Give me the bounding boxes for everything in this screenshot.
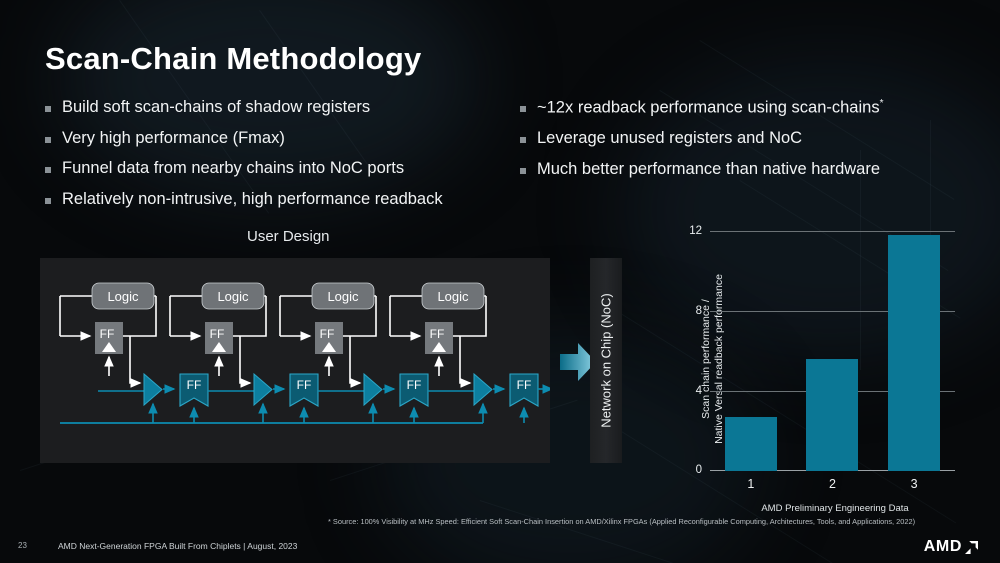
svg-text:FF: FF: [100, 327, 115, 341]
x-tick-label: 1: [710, 477, 791, 491]
scan-chain-diagram: Logic FF FF: [40, 258, 550, 463]
bullet-text: Relatively non-intrusive, high performan…: [62, 191, 443, 208]
bullet-square-icon: [45, 106, 51, 112]
svg-text:FF: FF: [297, 378, 312, 392]
amd-logo-text: AMD: [924, 538, 962, 556]
amd-arrow-mark-icon: [965, 541, 978, 554]
x-tick-label: 2: [792, 477, 873, 491]
bullet-text: Leverage unused registers and NoC: [537, 130, 802, 147]
chain-stage-1: Logic FF FF: [60, 283, 208, 423]
slide-root: Scan-Chain Methodology Build soft scan-c…: [0, 0, 1000, 563]
footnote-marker: *: [880, 98, 884, 109]
bar-slot-2: [792, 231, 873, 471]
svg-text:FF: FF: [430, 327, 445, 341]
list-item: Build soft scan-chains of shadow registe…: [45, 99, 515, 116]
svg-text:FF: FF: [320, 327, 335, 341]
svg-text:FF: FF: [187, 378, 202, 392]
chart-x-tick-labels: 1 2 3: [710, 477, 955, 491]
bullet-square-icon: [520, 137, 526, 143]
source-footnote: * Source: 100% Visibility at MHz Speed: …: [328, 517, 915, 526]
bullet-square-icon: [520, 106, 526, 112]
bullet-text: ~12x readback performance using scan-cha…: [537, 99, 883, 116]
user-design-label: User Design: [247, 228, 330, 245]
chain-stage-4: Logic FF FF: [390, 283, 550, 423]
chart-plot-area: 12 8 4 0: [710, 231, 955, 471]
svg-text:Logic: Logic: [217, 289, 249, 304]
bar-slot-1: [710, 231, 791, 471]
bullet-square-icon: [520, 168, 526, 174]
svg-text:FF: FF: [517, 378, 532, 392]
list-item: Relatively non-intrusive, high performan…: [45, 191, 515, 208]
bullet-text: Funnel data from nearby chains into NoC …: [62, 160, 404, 177]
noc-label: Network on Chip (NoC): [599, 293, 614, 427]
list-item: Leverage unused registers and NoC: [520, 130, 970, 147]
scan-chain-diagram-svg: Logic FF FF: [40, 258, 550, 463]
bullet-square-icon: [45, 137, 51, 143]
readback-performance-chart: Scan chain performance / Native Versal r…: [655, 225, 975, 515]
y-tick-label: 4: [696, 385, 702, 397]
svg-text:Logic: Logic: [107, 289, 139, 304]
bar-1: [725, 417, 777, 471]
bullet-text-main: ~12x readback performance using scan-cha…: [537, 99, 880, 117]
bullet-text: Much better performance than native hard…: [537, 161, 880, 178]
bar-slot-3: [874, 231, 955, 471]
page-title: Scan-Chain Methodology: [45, 41, 421, 77]
y-tick-label: 8: [696, 305, 702, 317]
bar-2: [806, 359, 858, 471]
chart-x-axis-label: AMD Preliminary Engineering Data: [710, 503, 960, 514]
x-tick-label: 3: [874, 477, 955, 491]
y-tick-label: 12: [689, 225, 702, 237]
list-item: ~12x readback performance using scan-cha…: [520, 99, 970, 116]
svg-text:FF: FF: [210, 327, 225, 341]
svg-text:FF: FF: [407, 378, 422, 392]
bullet-list-right: ~12x readback performance using scan-cha…: [520, 99, 970, 191]
chain-stage-2: Logic FF FF: [170, 283, 318, 423]
bullet-list-left: Build soft scan-chains of shadow registe…: [45, 99, 515, 221]
slide-number: 23: [18, 541, 27, 550]
bar-3: [888, 235, 940, 471]
amd-logo: AMD: [924, 538, 978, 556]
y-tick-label: 0: [696, 464, 702, 476]
list-item: Very high performance (Fmax): [45, 130, 515, 147]
footer-deck-title: AMD Next-Generation FPGA Built From Chip…: [58, 541, 297, 551]
svg-text:Logic: Logic: [327, 289, 359, 304]
svg-text:Logic: Logic: [437, 289, 469, 304]
network-on-chip-block: Network on Chip (NoC): [590, 258, 622, 463]
list-item: Funnel data from nearby chains into NoC …: [45, 160, 515, 177]
list-item: Much better performance than native hard…: [520, 161, 970, 178]
bullet-text: Build soft scan-chains of shadow registe…: [62, 99, 370, 116]
bullet-text: Very high performance (Fmax): [62, 130, 285, 147]
chart-bars: [710, 231, 955, 471]
chain-stage-3: Logic FF FF: [280, 283, 428, 423]
bullet-square-icon: [45, 198, 51, 204]
bullet-square-icon: [45, 167, 51, 173]
